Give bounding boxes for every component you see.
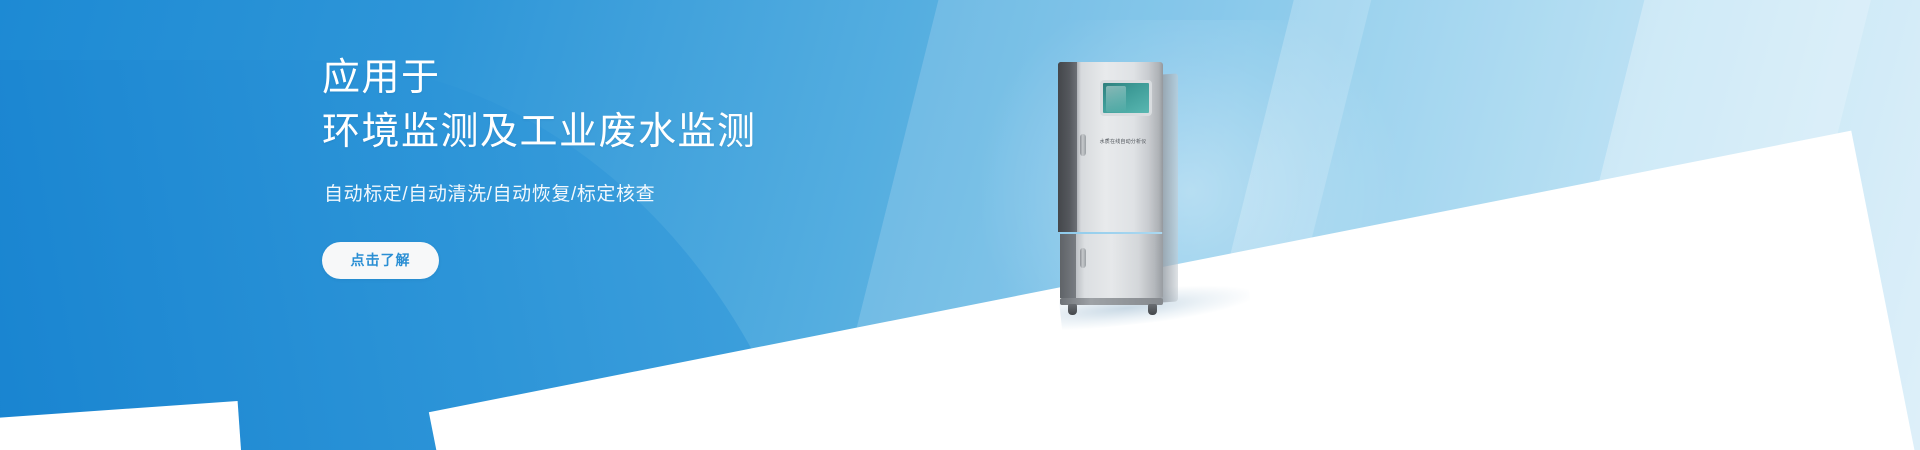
hero-banner: 应用于 环境监测及工业废水监测 自动标定/自动清洗/自动恢复/标定核查 点击了解… [0, 0, 1920, 450]
learn-more-button[interactable]: 点击了解 [322, 242, 439, 279]
device-caster-left [1068, 304, 1077, 315]
device-display-screen [1100, 80, 1152, 116]
page-title: 应用于 环境监测及工业废水监测 [322, 52, 962, 160]
banner-subtitle: 自动标定/自动清洗/自动恢复/标定核查 [324, 182, 962, 209]
device-side-unit [1162, 73, 1178, 302]
screen-glare [1106, 86, 1126, 112]
water-quality-analyzer-image: 水质在线自动分析仪 [1058, 62, 1178, 312]
banner-copy: 应用于 环境监测及工业废水监测 自动标定/自动清洗/自动恢复/标定核查 点击了解 [322, 52, 962, 279]
headline-line-1: 应用于 [322, 57, 441, 99]
device-upper-cabinet: 水质在线自动分析仪 [1058, 62, 1163, 232]
device-lower-cabinet [1060, 234, 1163, 298]
device-upper-cabinet-side [1058, 62, 1077, 232]
device-label: 水质在线自动分析仪 [1086, 140, 1160, 145]
device-lower-cabinet-side [1060, 234, 1076, 298]
device-upper-handle [1080, 134, 1086, 156]
device-lower-handle [1080, 248, 1086, 268]
device-caster-right [1148, 304, 1157, 315]
headline-line-2: 环境监测及工业废水监测 [322, 106, 962, 160]
